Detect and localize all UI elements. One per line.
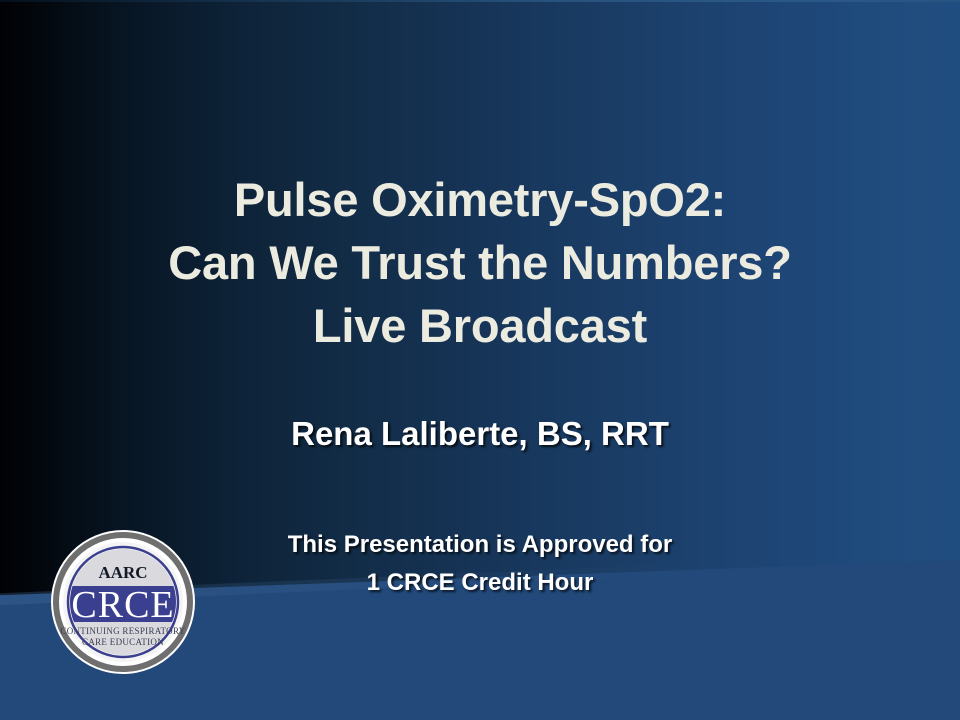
seal-tagline-line-1: CONTINUING RESPIRATORY [60, 626, 185, 636]
presentation-slide: Pulse Oximetry-SpO2: Can We Trust the Nu… [0, 0, 960, 720]
aarc-mark: AARC [98, 563, 147, 582]
presenter-name: Rena Laliberte, BS, RRT [0, 415, 960, 453]
seal-tagline-line-2: CARE EDUCATION [82, 637, 164, 647]
crce-seal-logo: AARC CRCE CONTINUING RESPIRATORY CARE ED… [50, 524, 196, 680]
crce-wordmark: CRCE [71, 584, 174, 626]
title-line-3: Live Broadcast [0, 294, 960, 357]
crce-seal-graphic: AARC CRCE CONTINUING RESPIRATORY CARE ED… [50, 524, 196, 680]
title-line-1: Pulse Oximetry-SpO2: [0, 168, 960, 231]
top-accent-line [0, 0, 960, 2]
slide-title: Pulse Oximetry-SpO2: Can We Trust the Nu… [0, 168, 960, 357]
title-line-2: Can We Trust the Numbers? [0, 231, 960, 294]
